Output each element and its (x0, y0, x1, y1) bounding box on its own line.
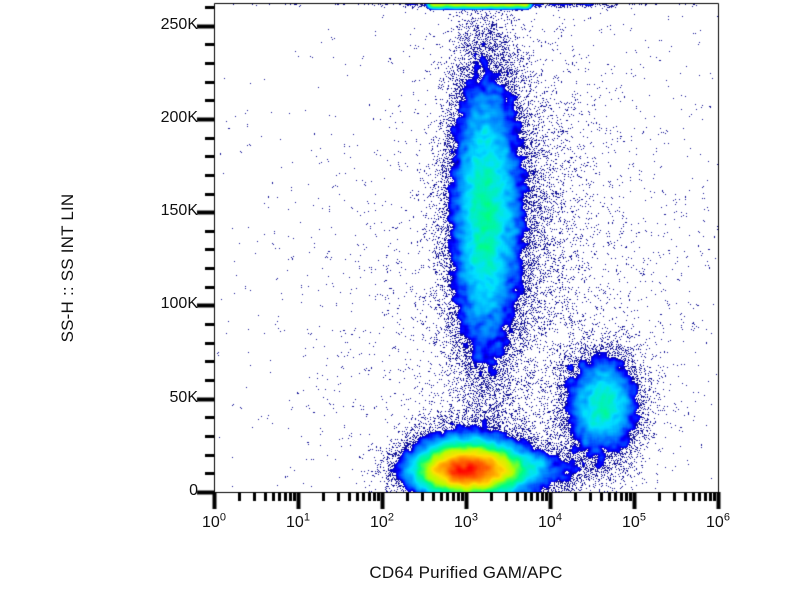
flow-cytometry-figure: SS-H :: SS INT LIN CD64 Purified GAM/APC… (0, 0, 800, 600)
y-tick-label-200K: 200K (138, 109, 198, 127)
y-axis-label: SS-H :: SS INT LIN (58, 148, 78, 388)
x-tick-label-1e4: 104 (522, 514, 578, 532)
x-tick-label-1e1: 101 (270, 514, 326, 532)
x-tick-label-1e3: 103 (438, 514, 494, 532)
y-tick-label-150K: 150K (138, 202, 198, 220)
x-tick-label-1e0: 100 (186, 514, 242, 532)
y-tick-label-0: 0 (138, 482, 198, 500)
y-tick-label-50K: 50K (138, 389, 198, 407)
y-tick-label-250K: 250K (138, 16, 198, 34)
x-tick-label-1e6: 106 (690, 514, 746, 532)
x-axis-label: CD64 Purified GAM/APC (214, 563, 718, 583)
y-tick-label-100K: 100K (138, 295, 198, 313)
x-tick-label-1e2: 102 (354, 514, 410, 532)
scatter-plot-canvas (0, 0, 800, 600)
x-tick-label-1e5: 105 (606, 514, 662, 532)
